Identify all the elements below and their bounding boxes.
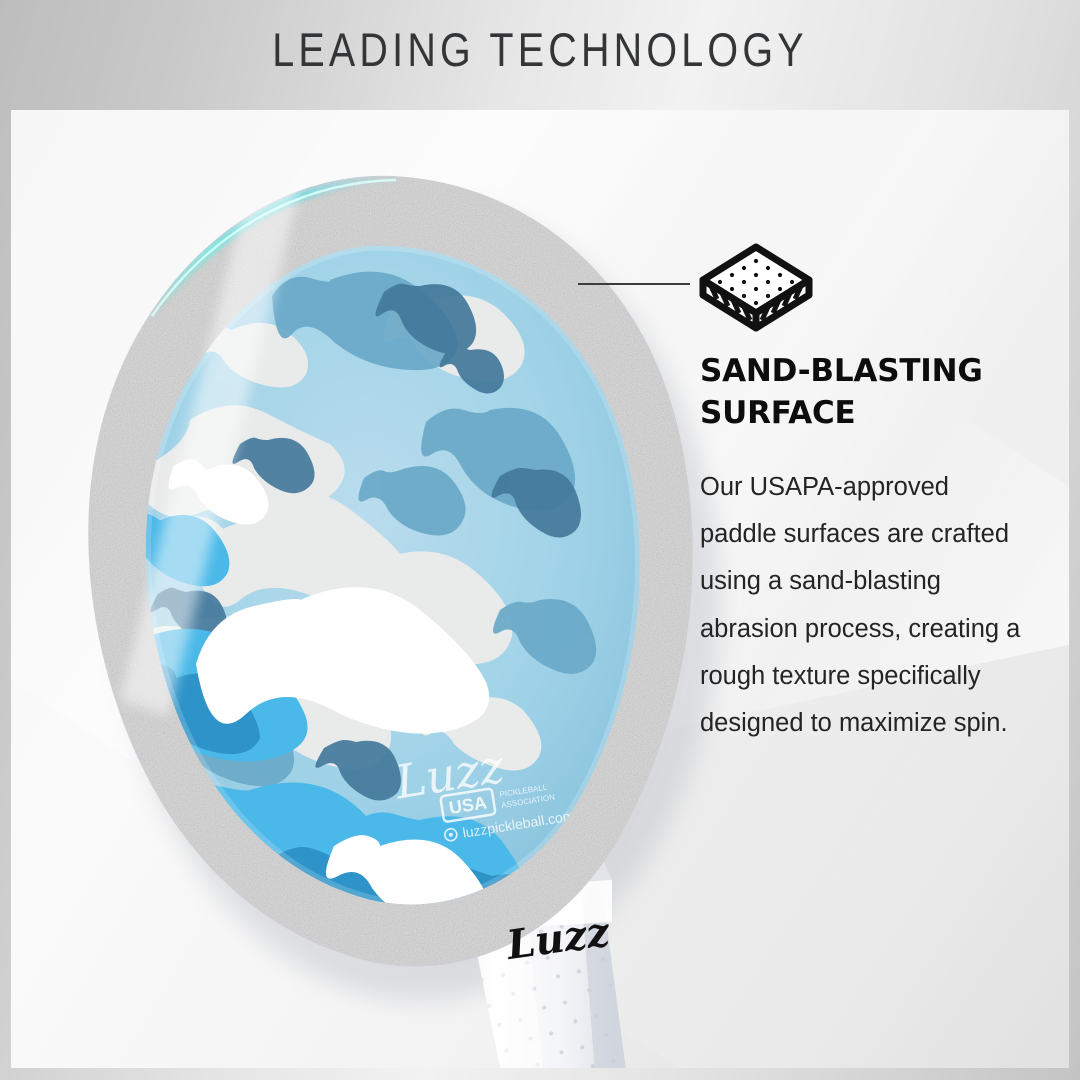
product-feature-graphic: LEADING TECHNOLOGY [0, 0, 1080, 1080]
feature-body-text: Our USAPA-approved paddle surfaces are c… [700, 464, 1030, 747]
feature-heading: SAND-BLASTING SURFACE [700, 351, 1020, 434]
feature-block: SAND-BLASTING SURFACE Our USAPA-approved… [690, 240, 1040, 747]
header-band: LEADING TECHNOLOGY [0, 0, 1080, 110]
page-title: LEADING TECHNOLOGY [86, 22, 993, 77]
icon-row [690, 240, 1040, 345]
leader-line [578, 283, 690, 285]
textured-slab-icon [698, 242, 814, 339]
